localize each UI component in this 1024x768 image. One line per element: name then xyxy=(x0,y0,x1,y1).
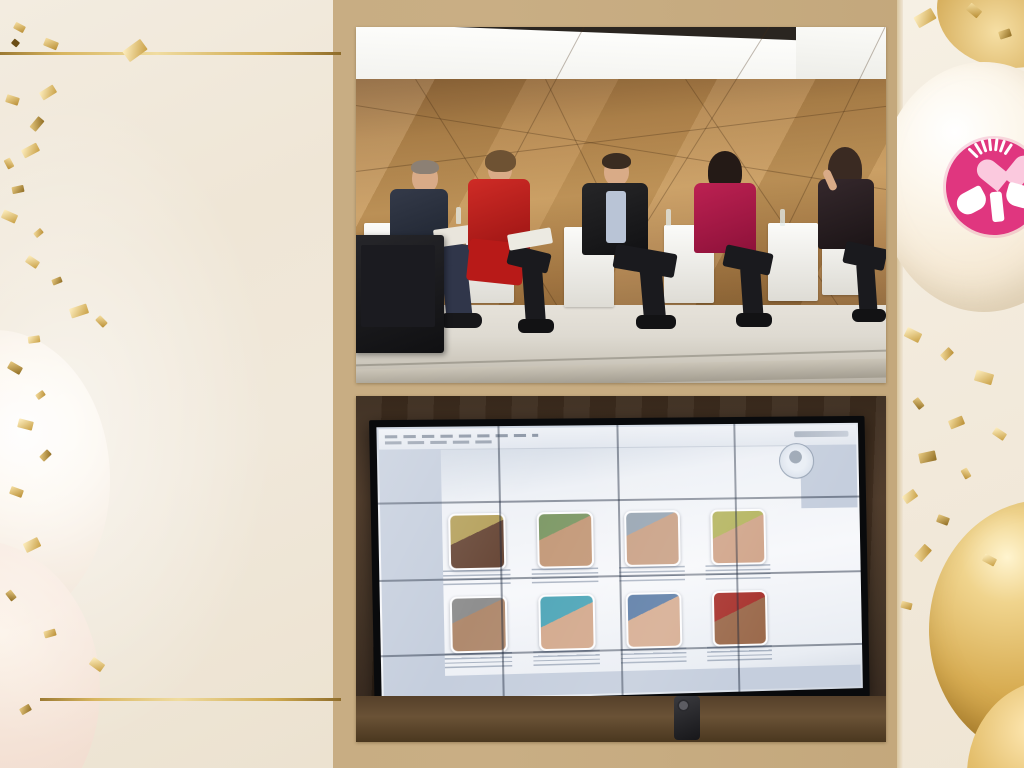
confetti-piece xyxy=(904,327,923,343)
confetti-piece xyxy=(936,514,950,526)
team-member-card xyxy=(704,509,783,588)
confetti-piece xyxy=(918,450,937,463)
menu-strip xyxy=(385,434,538,439)
team-member-card xyxy=(706,590,785,669)
right-decor-panel xyxy=(897,0,1024,768)
team-member-card xyxy=(618,510,698,589)
phone-on-stand xyxy=(674,696,700,740)
confetti-piece xyxy=(974,370,994,386)
slide-canvas xyxy=(0,0,1024,768)
team-member-card xyxy=(442,513,524,593)
gold-hairline-top xyxy=(0,52,341,55)
team-member-card xyxy=(620,591,700,671)
window-controls xyxy=(794,431,848,437)
event-logo xyxy=(912,105,1024,270)
table-surface xyxy=(356,696,886,742)
confetti-piece xyxy=(902,489,919,505)
team-member-card xyxy=(532,593,613,673)
left-text-panel xyxy=(0,0,333,768)
confetti-piece xyxy=(914,544,932,563)
toolbar-strip xyxy=(385,440,498,444)
gold-hairline-bottom xyxy=(40,698,341,701)
confetti-piece xyxy=(913,8,936,28)
photo-presentation-wall xyxy=(356,396,886,742)
team-member-card xyxy=(444,595,526,676)
panel-sheen xyxy=(0,0,333,768)
chair xyxy=(768,223,818,301)
video-wall xyxy=(369,416,870,712)
stage-monitor xyxy=(356,235,444,353)
confetti-piece xyxy=(940,347,954,361)
slide-surface xyxy=(376,423,862,702)
confetti-piece xyxy=(992,427,1007,441)
confetti-piece xyxy=(960,467,971,479)
team-member-card xyxy=(531,511,612,591)
confetti-piece xyxy=(948,416,965,430)
water-bottle xyxy=(780,209,785,226)
water-bottle xyxy=(456,207,461,224)
confetti-piece xyxy=(912,397,924,410)
water-bottle xyxy=(666,209,671,226)
slide-left-margin xyxy=(379,449,446,702)
photo-panel-discussion xyxy=(356,27,886,383)
